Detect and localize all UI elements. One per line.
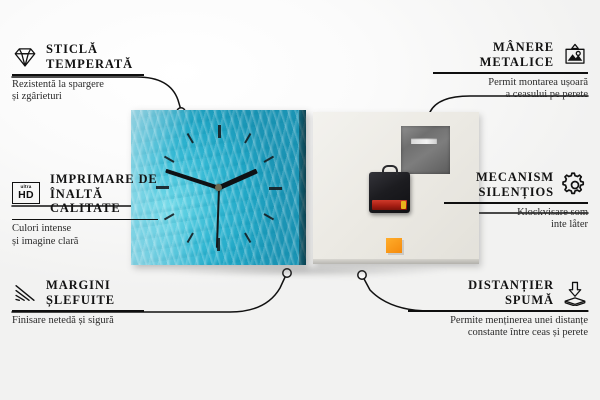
callout-header: MECANISM SILENȚIOS — [444, 170, 588, 199]
callout-distantier-spuma: DISTANȚIER SPUMĂ Permite menținerea unei… — [408, 278, 588, 340]
hanger-slot — [411, 138, 437, 144]
diamond-icon — [12, 44, 38, 70]
infographic-canvas: STICLĂ TEMPERATĂ Rezistentă la spargere … — [0, 0, 600, 400]
gear-icon — [562, 172, 588, 198]
callout-margini-slefuite: MARGINI ȘLEFUITE Finisare netedă și sigu… — [12, 278, 144, 327]
callout-mecanism-silentios: MECANISM SILENȚIOS Klockvisare som inte … — [444, 170, 588, 232]
clock-mechanism — [369, 172, 410, 213]
callout-title: STICLĂ TEMPERATĂ — [46, 42, 133, 71]
callout-rule — [12, 219, 158, 221]
polished-edge-icon — [12, 280, 38, 306]
callout-header: DISTANȚIER SPUMĂ — [408, 278, 588, 307]
callout-sticla-temperata: STICLĂ TEMPERATĂ Rezistentă la spargere … — [12, 42, 144, 104]
callout-title: MECANISM SILENȚIOS — [476, 170, 554, 199]
callout-title: IMPRIMARE DE ÎNALTĂ CALITATE — [50, 172, 158, 216]
callout-rule — [12, 310, 144, 312]
callout-subtitle: Permite menținerea unei distanțe constan… — [408, 315, 588, 340]
callout-header: MÂNERE METALICE — [433, 40, 588, 69]
product-image — [131, 110, 479, 270]
hanging-picture-icon — [562, 42, 588, 68]
callout-title: MÂNERE METALICE — [480, 40, 554, 69]
callout-rule — [12, 74, 144, 76]
metal-hanger-plate — [401, 126, 450, 174]
callout-manere-metalice: MÂNERE METALICE Permit montarea ușoară a… — [433, 40, 588, 102]
callout-subtitle: Rezistentă la spargere și zgârieturi — [12, 79, 144, 104]
callout-header: STICLĂ TEMPERATĂ — [12, 42, 144, 71]
callout-subtitle: Klockvisare som inte låter — [444, 207, 588, 232]
foam-spacer-pad — [386, 238, 402, 253]
callout-rule — [444, 202, 588, 204]
callout-title: MARGINI ȘLEFUITE — [46, 278, 115, 307]
callout-header: MARGINI ȘLEFUITE — [12, 278, 144, 307]
press-down-arrow-icon — [562, 280, 588, 306]
callout-header: ultraHD IMPRIMARE DE ÎNALTĂ CALITATE — [12, 172, 158, 216]
callout-subtitle: Culori intense și imagine clară — [12, 223, 158, 248]
callout-subtitle: Permit montarea ușoară a ceasului pe per… — [433, 77, 588, 102]
callout-rule — [408, 310, 588, 312]
ultra-hd-icon: ultraHD — [12, 182, 42, 206]
callout-rule — [433, 72, 588, 74]
mechanism-hanging-loop — [382, 165, 398, 175]
battery — [372, 200, 407, 210]
callout-title: DISTANȚIER SPUMĂ — [468, 278, 554, 307]
callout-subtitle: Finisare netedă și sigură — [12, 315, 144, 328]
clock-pivot — [215, 184, 222, 191]
callout-imprimare-calitate: ultraHD IMPRIMARE DE ÎNALTĂ CALITATE Cul… — [12, 172, 158, 248]
